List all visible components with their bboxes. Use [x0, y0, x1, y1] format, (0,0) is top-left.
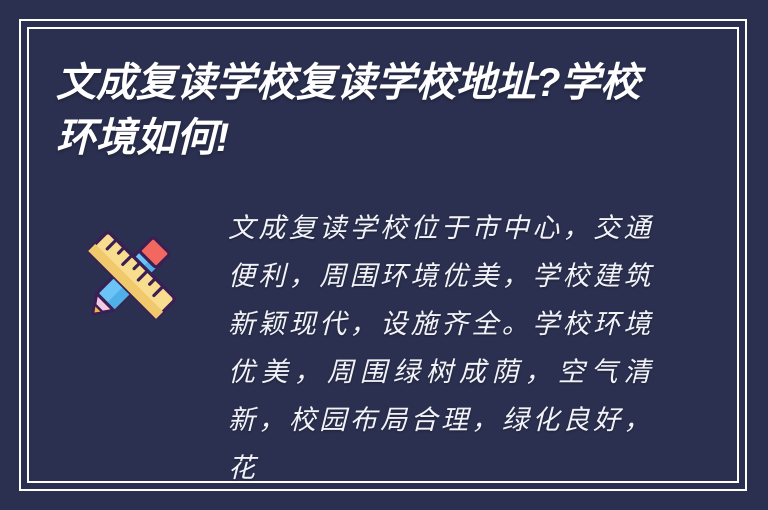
- title-line-2: 环境如何!: [56, 111, 636, 166]
- body-paragraph: 文成复读学校位于市中心，交通便利，周围环境优美，学校建筑新颖现代，设施齐全。学校…: [228, 205, 652, 493]
- poster-canvas: 文成复读学校复读学校地址?学校 环境如何!: [0, 0, 768, 510]
- ruler-and-pencil-icon: [76, 219, 188, 331]
- title-line-1: 文成复读学校复读学校地址?学校: [56, 56, 636, 111]
- page-title: 文成复读学校复读学校地址?学校 环境如何!: [56, 56, 636, 166]
